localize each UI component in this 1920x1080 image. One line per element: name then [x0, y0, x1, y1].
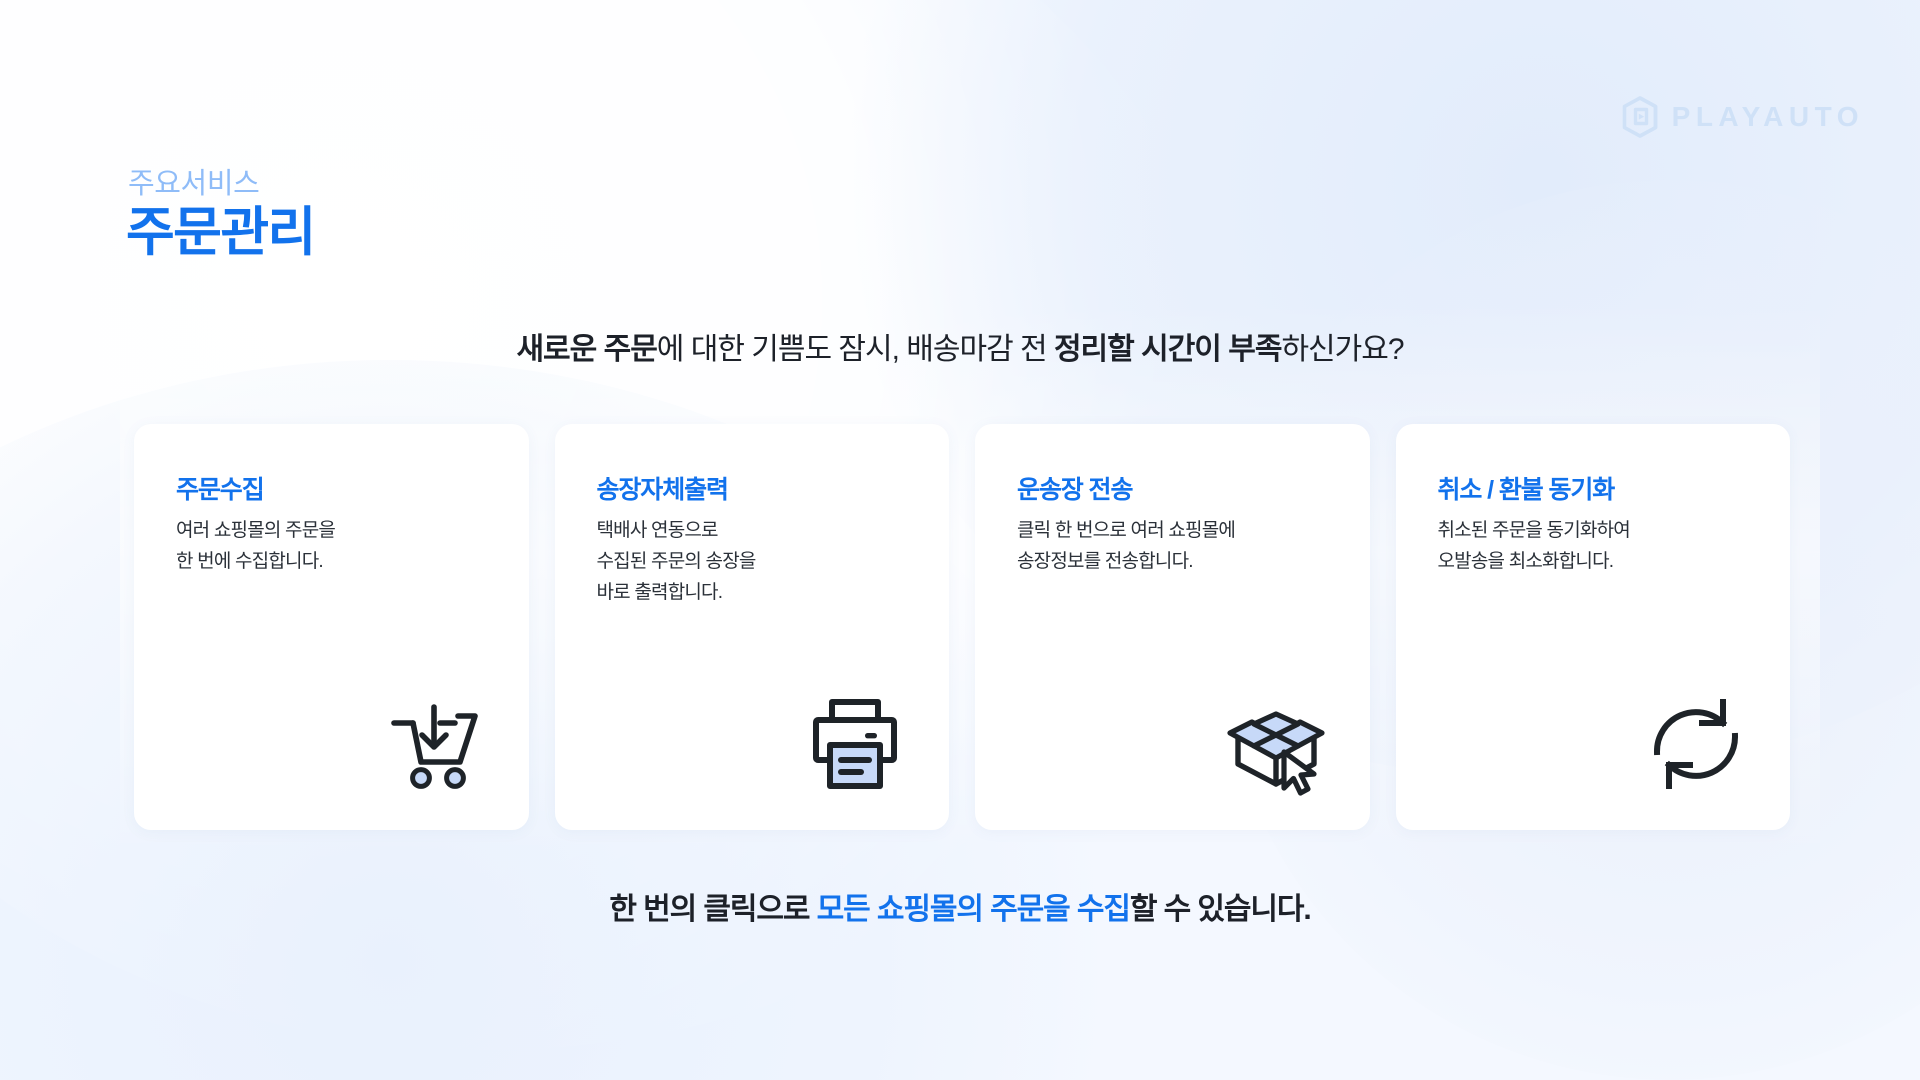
- subtitle: 새로운 주문에 대한 기쁨도 잠시, 배송마감 전 정리할 시간이 부족하신가요…: [0, 330, 1920, 371]
- slide-content: PLAYAUTO 주요서비스 주문관리 새로운 주문에 대한 기쁨도 잠시, 배…: [0, 0, 1920, 1080]
- caption-part-1: 한 번의 클릭으로: [609, 893, 816, 926]
- printer-icon: [803, 692, 907, 796]
- caption-highlight: 모든 쇼핑몰의 주문을 수집: [817, 893, 1130, 926]
- shopping-cart-download-icon: [383, 692, 487, 796]
- card-title: 송장자체출력: [597, 470, 728, 506]
- card-description: 택배사 연동으로 수집된 주문의 송장을 바로 출력합니다.: [597, 516, 926, 608]
- feature-card-order-collect[interactable]: 주문수집 여러 쇼핑몰의 주문을 한 번에 수집합니다.: [134, 424, 529, 830]
- caption-part-2: 할 수 있습니다.: [1130, 893, 1311, 926]
- card-title: 주문수집: [176, 470, 264, 506]
- open-box-cursor-icon: [1224, 692, 1328, 796]
- feature-card-invoice-print[interactable]: 송장자체출력 택배사 연동으로 수집된 주문의 송장을 바로 출력합니다.: [555, 424, 950, 830]
- brand-logo: PLAYAUTO: [1621, 96, 1864, 138]
- feature-card-list: 주문수집 여러 쇼핑몰의 주문을 한 번에 수집합니다.: [134, 424, 1790, 830]
- subtitle-part-1: 새로운 주문: [516, 333, 656, 366]
- feature-card-waybill-send[interactable]: 운송장 전송 클릭 한 번으로 여러 쇼핑몰에 송장정보를 전송합니다.: [975, 424, 1370, 830]
- card-description: 취소된 주문을 동기화하여 오발송을 최소화합니다.: [1438, 516, 1767, 578]
- card-title: 운송장 전송: [1017, 470, 1132, 506]
- footer-caption: 한 번의 클릭으로 모든 쇼핑몰의 주문을 수집할 수 있습니다.: [0, 884, 1920, 928]
- sync-arrows-icon: [1644, 692, 1748, 796]
- subtitle-part-3: 정리할 시간이 부족: [1054, 333, 1281, 366]
- section-eyebrow: 주요서비스: [128, 160, 259, 202]
- card-title: 취소 / 환불 동기화: [1438, 470, 1615, 506]
- card-description: 여러 쇼핑몰의 주문을 한 번에 수집합니다.: [176, 516, 505, 578]
- playauto-cube-logo-icon: [1621, 96, 1659, 138]
- feature-card-cancel-refund-sync[interactable]: 취소 / 환불 동기화 취소된 주문을 동기화하여 오발송을 최소화합니다.: [1396, 424, 1791, 830]
- card-description: 클릭 한 번으로 여러 쇼핑몰에 송장정보를 전송합니다.: [1017, 516, 1346, 578]
- subtitle-part-4: 하신가요?: [1281, 333, 1403, 366]
- subtitle-part-2: 에 대한 기쁨도 잠시, 배송마감 전: [657, 333, 1054, 366]
- page-title: 주문관리: [126, 203, 315, 262]
- brand-name: PLAYAUTO: [1672, 103, 1864, 131]
